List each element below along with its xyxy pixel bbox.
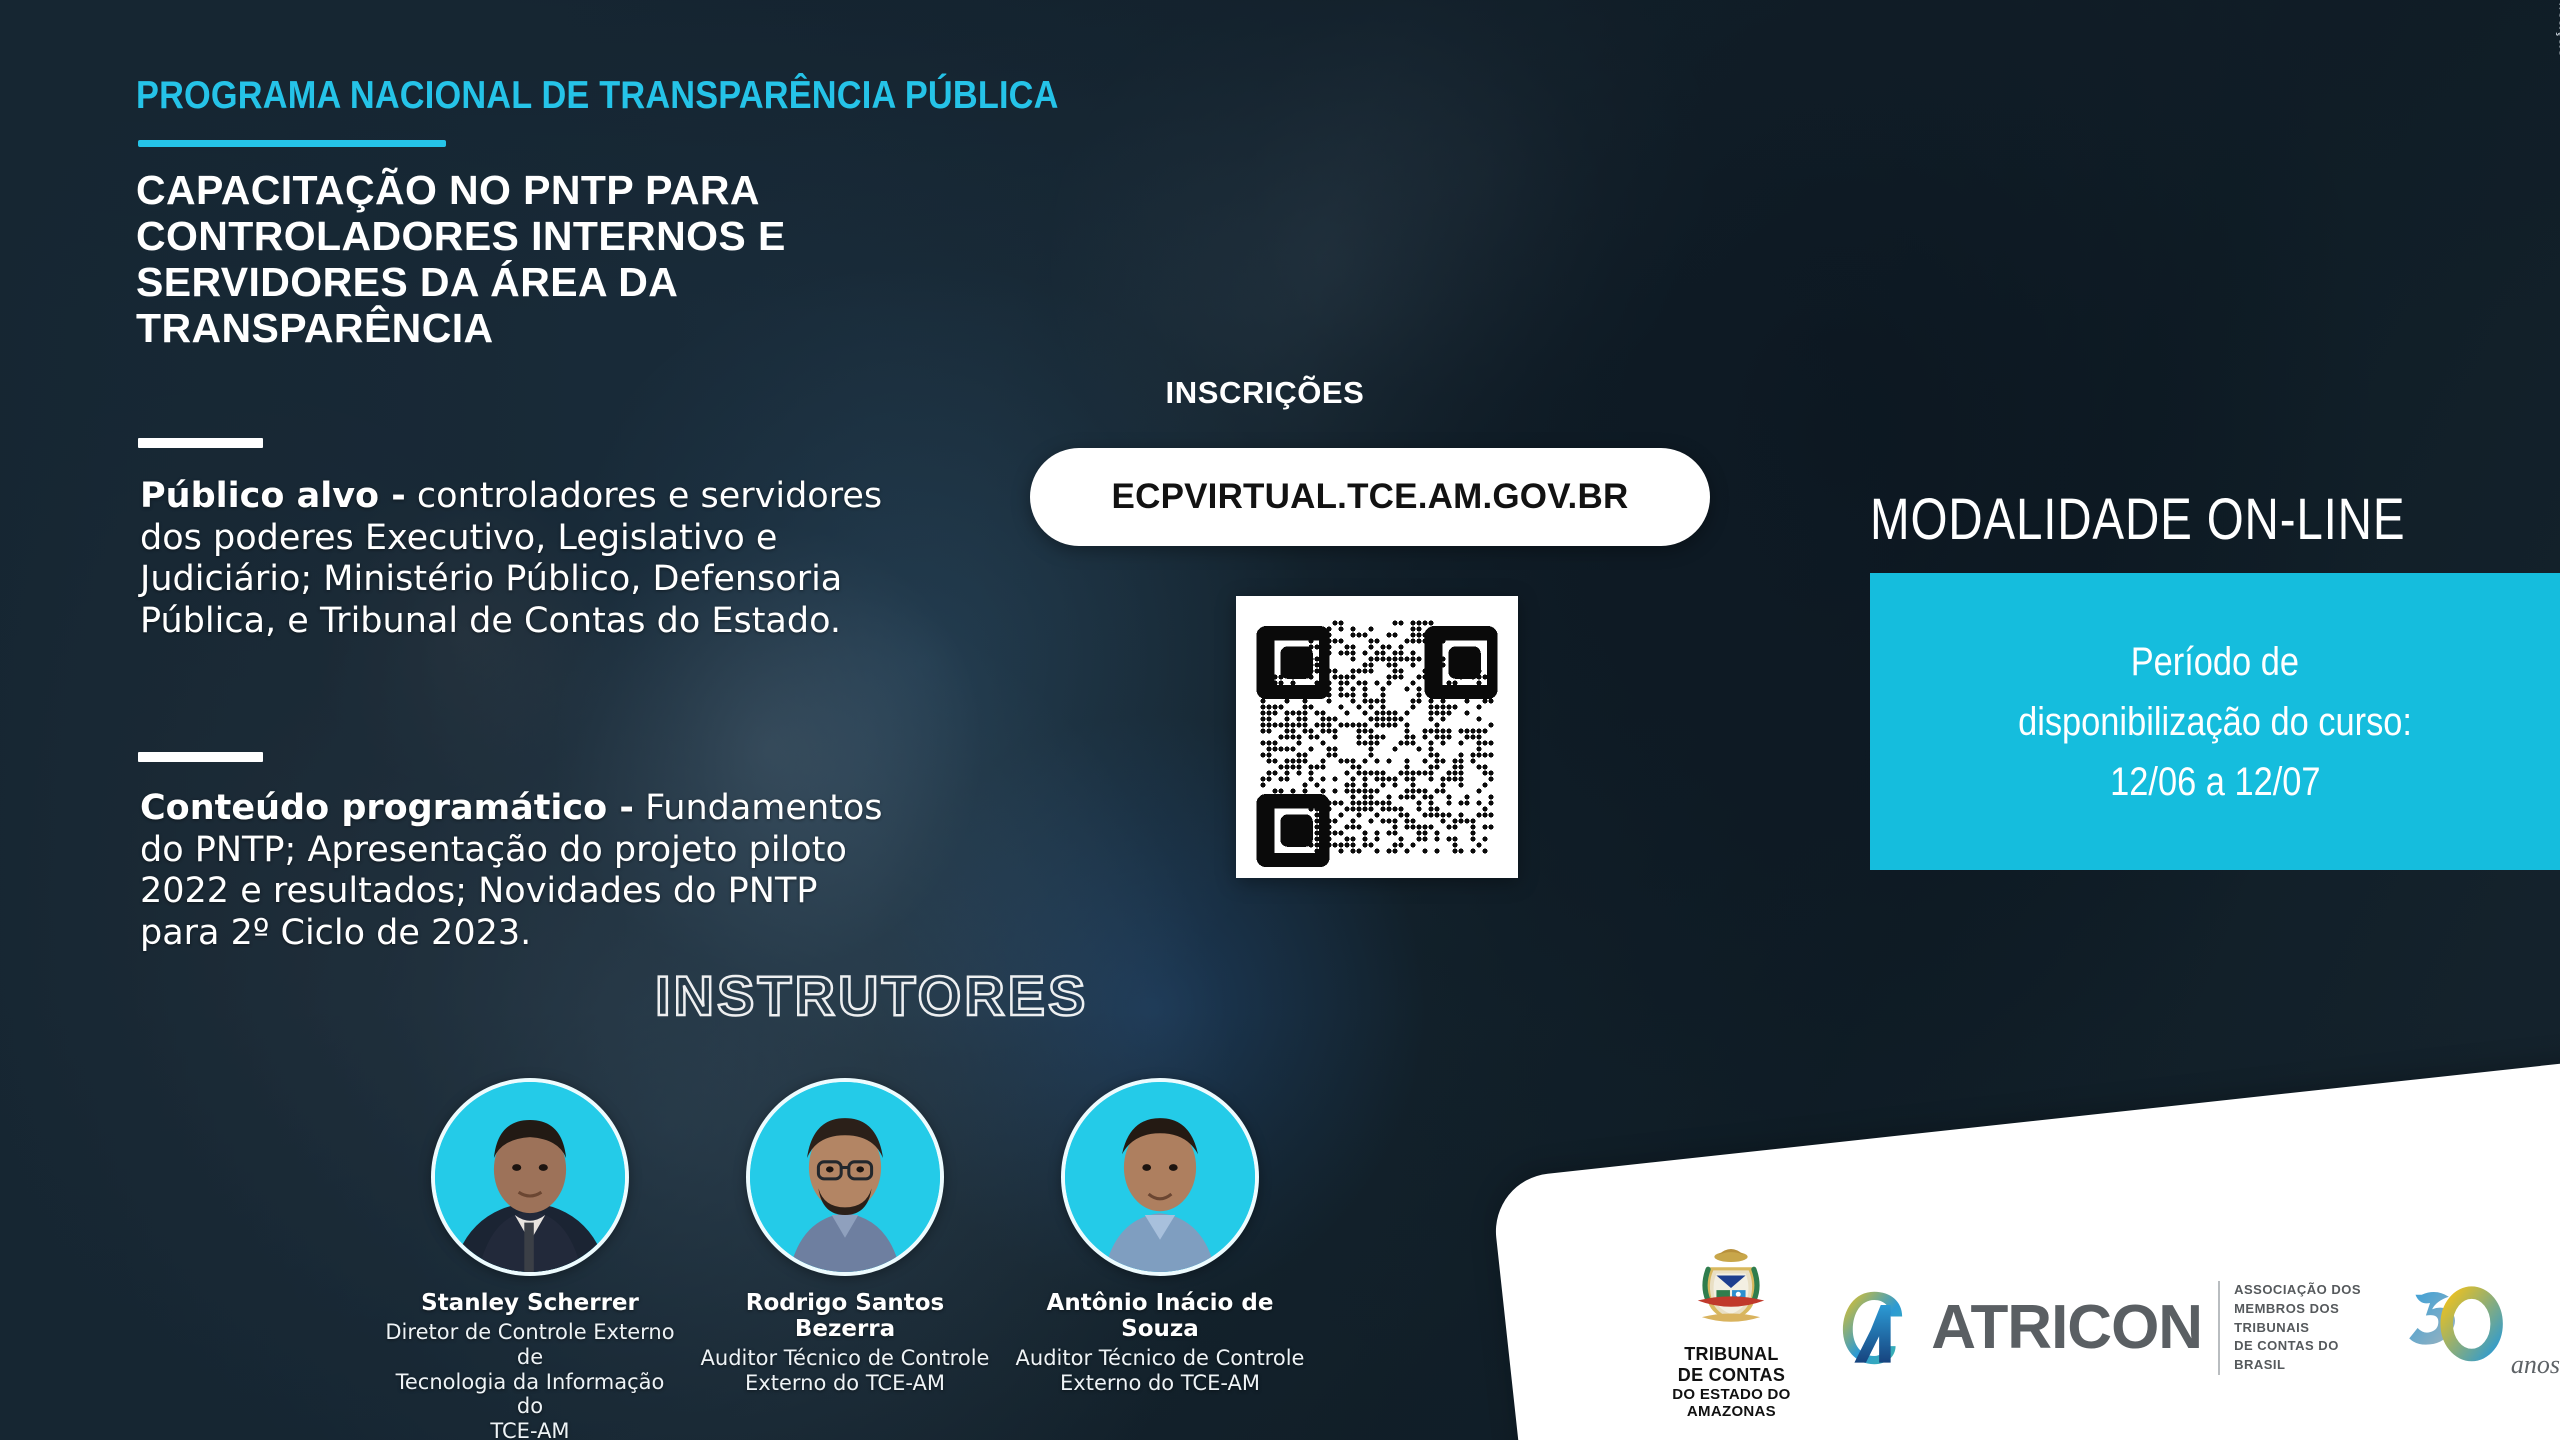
avatar [1061, 1078, 1259, 1276]
kicker-rule [138, 140, 446, 147]
modalidade-title: MODALIDADE ON-LINE [1870, 486, 2405, 553]
registration-url-text: ECPVIRTUAL.TCE.AM.GOV.BR [1112, 477, 1629, 517]
anniversary-logo: anos [2403, 1276, 2560, 1380]
page-title: CAPACITAÇÃO NO PNTP PARA CONTROLADORES I… [136, 168, 1036, 352]
atricon-logo: ATRICON ASSOCIAÇÃO DOS MEMBROS DOS TRIBU… [1833, 1269, 2363, 1387]
program-kicker: PROGRAMA NACIONAL DE TRANSPARÊNCIA PÚBLI… [136, 74, 1059, 118]
instructor-name: Rodrigo Santos Bezerra [695, 1290, 995, 1342]
thirty-years-icon [2403, 1276, 2507, 1380]
person-photo-icon [1065, 1082, 1255, 1272]
avatar [746, 1078, 944, 1276]
footer-logos: TRIBUNAL DE CONTAS DO ESTADO DO AMAZONAS [1670, 1248, 2560, 1408]
instructor-name: Stanley Scherrer [380, 1290, 680, 1316]
instrutores-heading: INSTRUTORES [655, 963, 1088, 1028]
anniversary-word: anos [2511, 1350, 2560, 1380]
list-item: Rodrigo Santos Bezerra Auditor Técnico d… [695, 1078, 995, 1396]
instructor-role: Diretor de Controle Externo de Tecnologi… [380, 1320, 680, 1440]
artist-credit: Arte: Daniel Barros | DICOM - Diretoria … [2554, 0, 2560, 58]
list-item: Antônio Inácio de Souza Auditor Técnico … [1010, 1078, 1310, 1396]
atricon-tagline: ASSOCIAÇÃO DOS MEMBROS DOS TRIBUNAIS DE … [2218, 1281, 2363, 1375]
instructors-list: Stanley Scherrer Diretor de Controle Ext… [380, 1078, 1330, 1398]
periodo-panel: Período de disponibilização do curso: 12… [1870, 573, 2560, 870]
poster-canvas: PROGRAMA NACIONAL DE TRANSPARÊNCIA PÚBLI… [0, 0, 2560, 1440]
person-photo-icon [750, 1082, 940, 1272]
atricon-wordmark: ATRICON [1931, 1297, 2202, 1359]
instructor-role: Auditor Técnico de Controle Externo do T… [695, 1346, 995, 1396]
atricon-tagline-line-1: ASSOCIAÇÃO DOS [2234, 1281, 2363, 1300]
tce-logo-line-1: TRIBUNAL DE CONTAS [1670, 1344, 1793, 1386]
avatar [431, 1078, 629, 1276]
coat-of-arms-icon [1679, 1236, 1783, 1340]
tce-logo-line-2: DO ESTADO DO AMAZONAS [1670, 1386, 1793, 1420]
conteudo-programatico-block: Conteúdo programático - Fundamentos do P… [140, 788, 900, 955]
periodo-line-2: disponibilização do curso: [2018, 702, 2412, 742]
divider-dash-conteudo [138, 752, 263, 762]
person-photo-icon [435, 1082, 625, 1272]
periodo-line-3: 12/06 a 12/07 [2110, 762, 2320, 802]
conteudo-label: Conteúdo programático - [140, 788, 634, 828]
divider-dash-publico [138, 438, 263, 448]
atricon-tagline-line-3: DE CONTAS DO BRASIL [2234, 1337, 2363, 1375]
atricon-tagline-line-2: MEMBROS DOS TRIBUNAIS [2234, 1300, 2363, 1338]
periodo-line-1: Período de [2131, 642, 2299, 682]
qr-code-icon [1236, 596, 1518, 878]
registration-url-button[interactable]: ECPVIRTUAL.TCE.AM.GOV.BR [1030, 448, 1710, 546]
list-item: Stanley Scherrer Diretor de Controle Ext… [380, 1078, 680, 1440]
qr-code[interactable] [1236, 596, 1518, 878]
instructor-name: Antônio Inácio de Souza [1010, 1290, 1310, 1342]
tce-am-logo: TRIBUNAL DE CONTAS DO ESTADO DO AMAZONAS [1670, 1236, 1793, 1420]
instructor-role: Auditor Técnico de Controle Externo do T… [1010, 1346, 1310, 1396]
inscricoes-label: INSCRIÇÕES [1166, 375, 1365, 411]
atricon-mark-icon [1833, 1269, 1915, 1387]
publico-alvo-label: Público alvo - [140, 476, 406, 516]
publico-alvo-block: Público alvo - controladores e servidore… [140, 476, 900, 643]
